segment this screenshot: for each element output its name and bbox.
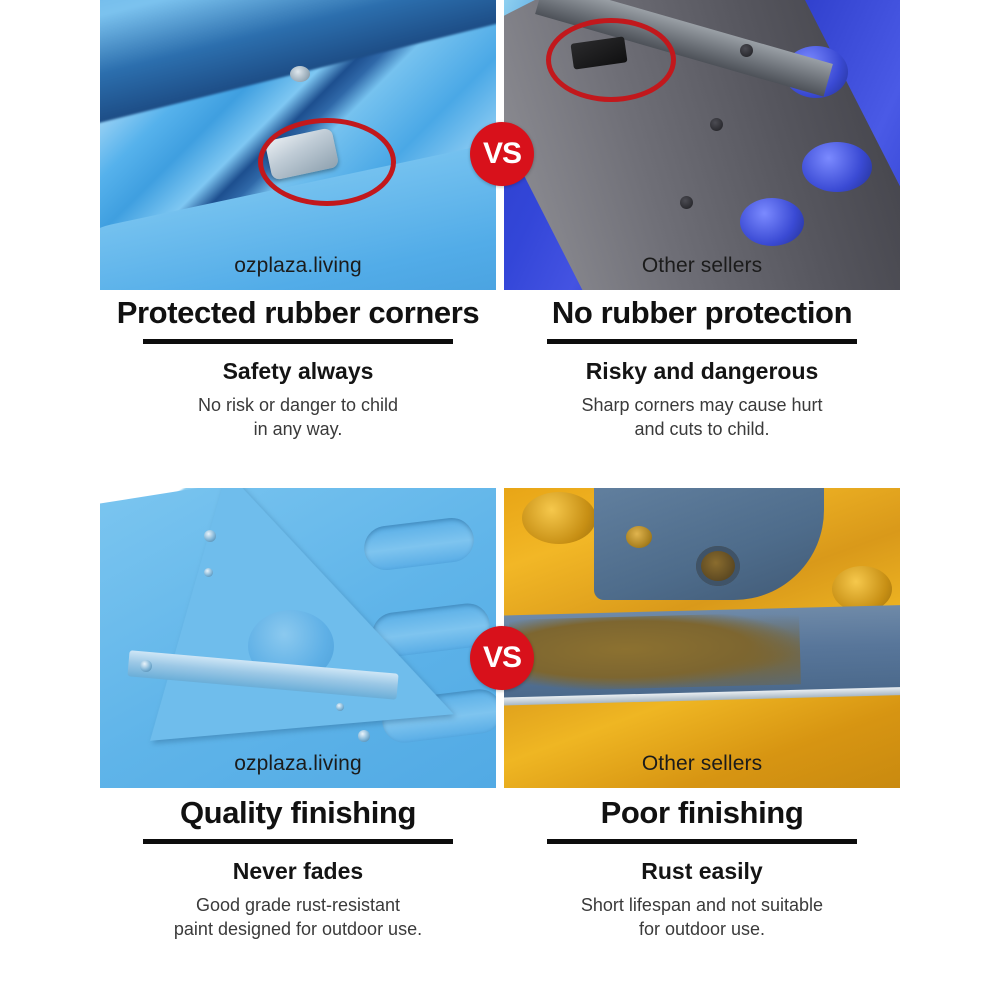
body-theirs-rubber: Sharp corners may cause hurt and cuts to… [502,393,902,441]
subhead-theirs-finishing: Rust easily [502,858,902,884]
body-ours-rubber: No risk or danger to child in any way. [98,393,498,441]
body-line: for outdoor use. [502,917,902,941]
photo-watermark-theirs-bottom: Other sellers [504,752,900,776]
text-block-ours-rubber: Protected rubber corners Safety always N… [98,296,498,441]
body-theirs-finishing: Short lifespan and not suitable for outd… [502,893,902,941]
bolt-head [336,703,344,711]
headline-ours-finishing: Quality finishing [98,796,498,829]
bolt-head [204,568,213,577]
vs-badge-label: VS [483,137,521,171]
seat-dimple [802,142,872,192]
text-block-ours-finishing: Quality finishing Never fades Good grade… [98,796,498,941]
comparison-row-finishing: ozplaza.living Other sellers VS [0,478,1000,1000]
photo-watermark-ours-bottom: ozplaza.living [100,752,496,776]
text-block-theirs-finishing: Poor finishing Rust easily Short lifespa… [502,796,902,941]
text-block-theirs-rubber: No rubber protection Risky and dangerous… [502,296,902,441]
headline-theirs-finishing: Poor finishing [502,796,902,829]
bolt-hole [710,118,723,131]
headline-divider [143,339,453,344]
bolt-hole [680,196,693,209]
body-line: No risk or danger to child [98,393,498,417]
photo-watermark-ours-top: ozplaza.living [100,254,496,278]
headline-divider [547,839,857,844]
vs-badge-top: VS [470,122,534,186]
photo-ours-quality-finish: ozplaza.living [100,488,496,788]
bolt-head [140,660,152,672]
bolt-head [358,730,370,742]
body-line: paint designed for outdoor use. [98,917,498,941]
body-ours-finishing: Good grade rust-resistant paint designed… [98,893,498,941]
seat-dimple [740,198,804,246]
rust-patch [509,612,801,692]
headline-divider [547,339,857,344]
photo-theirs-poor-finish: Other sellers [504,488,900,788]
highlight-ellipse-icon [546,18,676,102]
subhead-theirs-rubber: Risky and dangerous [502,358,902,384]
highlight-ellipse-icon [258,118,396,206]
photo-band-top: ozplaza.living Other sellers VS [0,0,1000,290]
headline-ours-rubber: Protected rubber corners [98,296,498,329]
subhead-ours-finishing: Never fades [98,858,498,884]
photo-watermark-theirs-top: Other sellers [504,254,900,278]
body-line: in any way. [98,417,498,441]
subhead-ours-rubber: Safety always [98,358,498,384]
photo-ours-rubber-corner: ozplaza.living [100,0,496,290]
body-line: Sharp corners may cause hurt [502,393,902,417]
bolt-head [204,530,216,542]
bolt-hole [740,44,753,57]
body-line: and cuts to child. [502,417,902,441]
photo-band-bottom: ozplaza.living Other sellers VS [0,488,1000,788]
comparison-row-rubber-corners: ozplaza.living Other sellers VS Prote [0,0,1000,478]
headline-theirs-rubber: No rubber protection [502,296,902,329]
photo-theirs-no-rubber: Other sellers [504,0,900,290]
rusted-bolt [696,546,740,586]
product-comparison-infographic: ozplaza.living Other sellers VS Prote [0,0,1000,1000]
vs-badge-label: VS [483,641,521,675]
headline-divider [143,839,453,844]
body-line: Short lifespan and not suitable [502,893,902,917]
body-line: Good grade rust-resistant [98,893,498,917]
vs-badge-bottom: VS [470,626,534,690]
bracket-hole [626,526,652,548]
screw-detail [290,66,310,82]
